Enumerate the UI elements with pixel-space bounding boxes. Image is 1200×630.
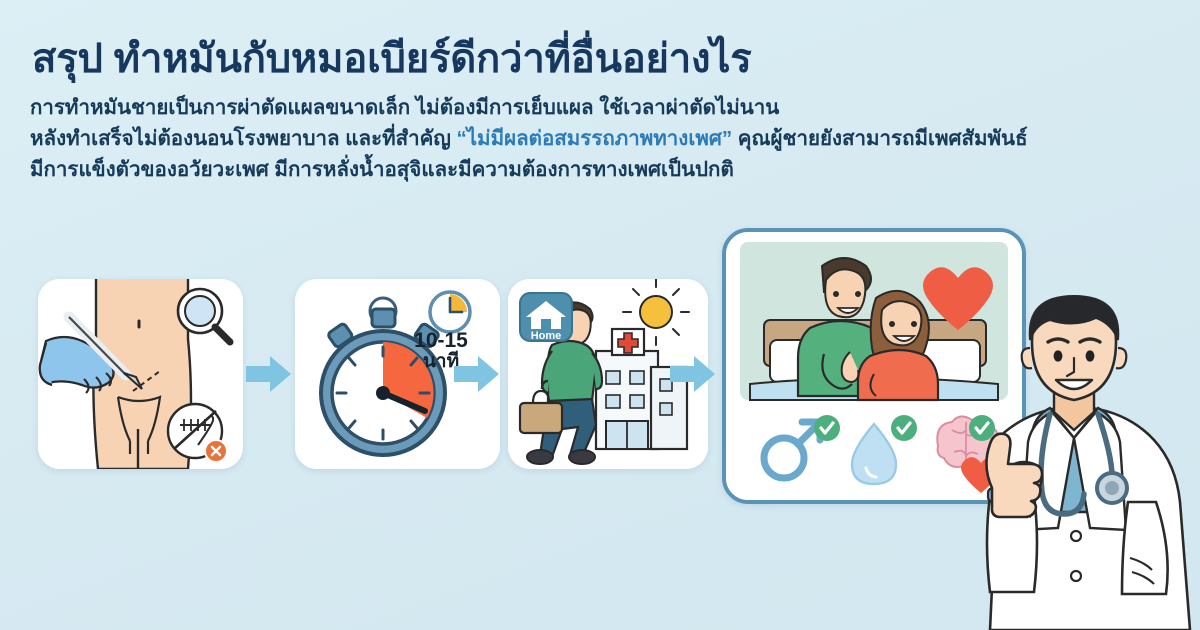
body-line-2-after: คุณผู้ชายยังสามารถมีเพศสัมพันธ์ <box>732 127 1027 150</box>
svg-text:Home: Home <box>531 330 562 342</box>
home-badge-icon: Home <box>520 293 572 342</box>
body-line-3: มีการแข็งตัวของอวัยวะเพศ มีการหลั่งน้ำอส… <box>30 154 1180 185</box>
process-flow: 10-15 นาที <box>30 228 1030 513</box>
body-line-2-quote: “ไม่มีผลต่อสมรรถภาพทางเพศ” <box>457 127 733 150</box>
body-line-2: หลังทำเสร็จไม่ต้องนอนโรงพยาบาล และที่สำค… <box>30 123 1180 154</box>
flow-arrow-3 <box>670 354 716 394</box>
body-line-2-before: หลังทำเสร็จไม่ต้องนอนโรงพยาบาล และที่สำค… <box>30 127 457 150</box>
doctor-thumbs-up <box>944 290 1200 630</box>
clock-icon <box>430 292 470 332</box>
body-copy: การทำหมันชายเป็นการผ่าตัดแผลขนาดเล็ก ไม่… <box>30 92 1180 185</box>
flow-arrow-1 <box>246 354 292 394</box>
body-line-1: การทำหมันชายเป็นการผ่าตัดแผลขนาดเล็ก ไม่… <box>30 92 1180 123</box>
bag-icon <box>520 403 562 433</box>
flow-arrow-2 <box>454 354 500 394</box>
flow-card-surgery <box>38 279 243 469</box>
page-title: สรุป ทำหมันกับหมอเบียร์ดีกว่าที่อื่นอย่า… <box>32 26 752 90</box>
duration-value: 10-15 <box>414 329 468 352</box>
infographic-page: สรุป ทำหมันกับหมอเบียร์ดีกว่าที่อื่นอย่า… <box>0 0 1200 630</box>
